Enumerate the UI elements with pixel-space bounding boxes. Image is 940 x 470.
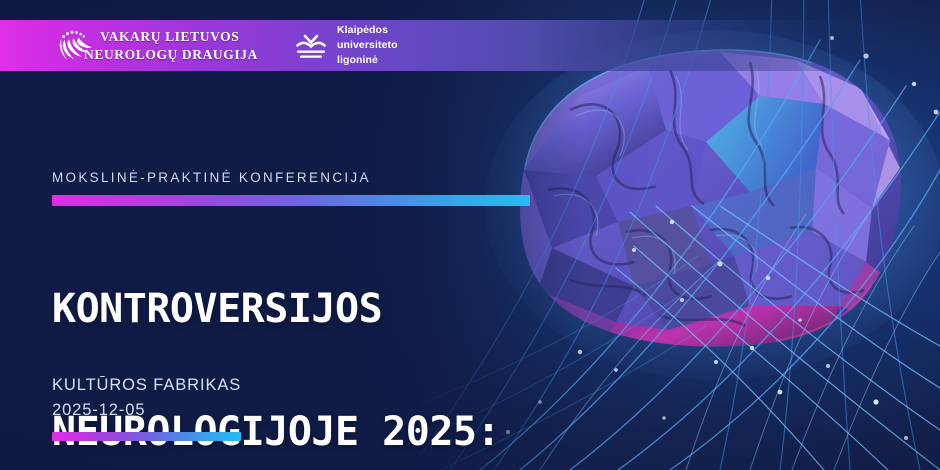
gradient-rule-bottom: [52, 432, 241, 441]
conference-venue: KULTŪROS FABRIKAS: [52, 373, 241, 398]
conference-date: 2025-12-05: [52, 398, 241, 423]
banner-content: MOKSLINĖ-PRAKTINĖ KONFERENCIJA KONTROVER…: [52, 0, 572, 470]
gradient-rule-top: [52, 195, 530, 206]
conference-eyebrow: MOKSLINĖ-PRAKTINĖ KONFERENCIJA: [52, 170, 371, 185]
conference-title: KONTROVERSIJOS NEUROLOGIJOJE 2025: EKSPE…: [52, 207, 572, 470]
conference-title-line-1: KONTROVERSIJOS: [52, 289, 572, 330]
conference-banner: VAKARŲ LIETUVOS NEUROLOGŲ DRAUGIJA Klaip…: [0, 0, 940, 470]
conference-venue-block: KULTŪROS FABRIKAS 2025-12-05: [52, 373, 241, 423]
